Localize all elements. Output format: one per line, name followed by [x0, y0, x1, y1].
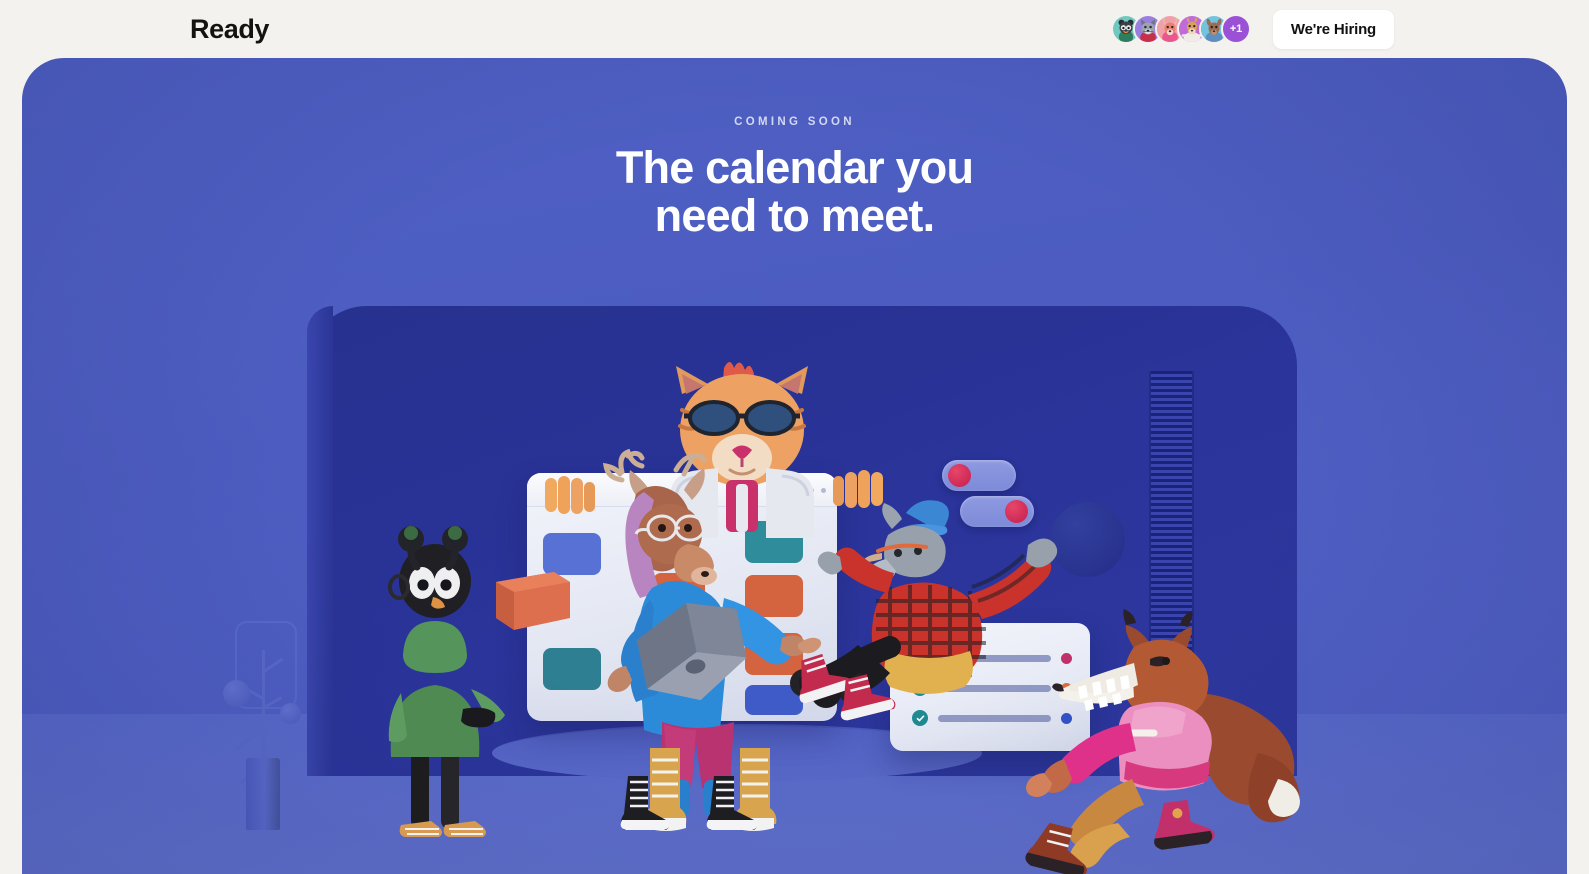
wolf-leg-sneakers [780, 643, 920, 733]
plant-leaf-ball [223, 680, 250, 707]
black-sneaker-left [618, 776, 672, 838]
avatar-overflow-count[interactable]: +1 [1221, 14, 1251, 44]
team-avatar-stack[interactable]: +1 [1111, 14, 1251, 44]
hero-eyebrow: COMING SOON [22, 116, 1567, 128]
brand-logo[interactable]: Ready [190, 14, 269, 45]
plant-leaf-ball [280, 703, 301, 724]
were-hiring-button[interactable]: We're Hiring [1273, 10, 1394, 49]
hero-panel: COMING SOON The calendar you need to mee… [22, 58, 1567, 874]
penguin-character [367, 513, 517, 843]
black-sneaker-right [702, 776, 760, 838]
headline-line-1: The calendar you [22, 144, 1567, 192]
page-title: The calendar you need to meet. [22, 144, 1567, 239]
plant-vase [246, 758, 280, 830]
headline-line-2: need to meet. [22, 192, 1567, 240]
penguin-orange-card[interactable] [490, 568, 576, 634]
site-header: Ready [0, 0, 1589, 58]
fox-character [1022, 603, 1302, 863]
scene-backwall-edge [307, 306, 333, 776]
hero-copy: COMING SOON The calendar you need to mee… [22, 116, 1567, 239]
header-actions: +1 We're Hiring [1111, 10, 1549, 49]
